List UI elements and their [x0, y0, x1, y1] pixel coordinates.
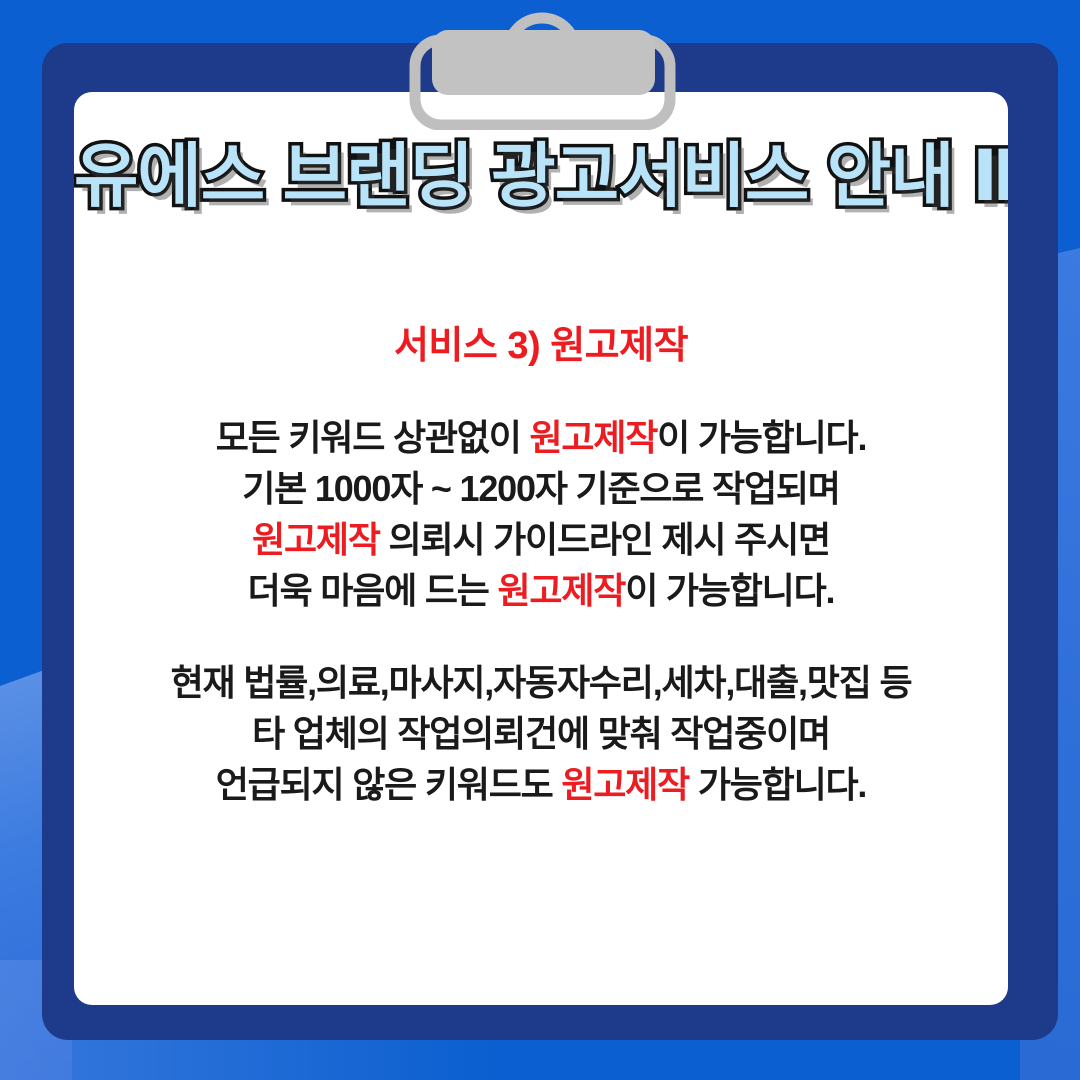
body-line: 타 업체의 작업의뢰건에 맞춰 작업중이며 [74, 708, 1008, 759]
promo-card-canvas: 유에스 브랜딩 광고서비스 안내 Ⅲ 서비스 3) 원고제작 모든 키워드 상관… [0, 0, 1080, 1080]
body-block-two: 현재 법률,의료,마사지,자동자수리,세차,대출,맛집 등타 업체의 작업의뢰건… [74, 657, 1008, 810]
paper-sheet: 유에스 브랜딩 광고서비스 안내 Ⅲ 서비스 3) 원고제작 모든 키워드 상관… [74, 92, 1008, 1005]
highlight-term: 원고제작 [498, 570, 626, 611]
body-line: 더욱 마음에 드는 원고제작이 가능합니다. [74, 565, 1008, 616]
body-text: 현재 법률,의료,마사지,자동자수리,세차,대출,맛집 등 [171, 662, 912, 703]
highlight-term: 원고제작 [561, 764, 689, 805]
body-text: 더욱 마음에 드는 [248, 570, 498, 611]
body-text: 타 업체의 작업의뢰건에 맞춰 작업중이며 [252, 713, 830, 754]
body-text: 언급되지 않은 키워드도 [216, 764, 562, 805]
body-line: 기본 1000자 ~ 1200자 기준으로 작업되며 [74, 463, 1008, 514]
body-line: 언급되지 않은 키워드도 원고제작 가능합니다. [74, 759, 1008, 810]
highlight-term: 원고제작 [529, 417, 657, 458]
clipboard-clip [400, 0, 685, 130]
clip-bar [432, 30, 655, 95]
body-text: 의뢰시 가이드라인 제시 주시면 [380, 519, 830, 560]
body-line: 현재 법률,의료,마사지,자동자수리,세차,대출,맛집 등 [74, 657, 1008, 708]
highlight-term: 원고제작 [252, 519, 380, 560]
page-title: 유에스 브랜딩 광고서비스 안내 Ⅲ [74, 140, 1008, 214]
body-text: 이 가능합니다. [625, 570, 834, 611]
body-text: 가능합니다. [689, 764, 866, 805]
body-text: 모든 키워드 상관없이 [216, 417, 530, 458]
body-text: 기본 1000자 ~ 1200자 기준으로 작업되며 [242, 468, 839, 509]
body-line: 모든 키워드 상관없이 원고제작이 가능합니다. [74, 412, 1008, 463]
service-subtitle: 서비스 3) 원고제작 [74, 314, 1008, 369]
body-line: 원고제작 의뢰시 가이드라인 제시 주시면 [74, 514, 1008, 565]
body-text: 이 가능합니다. [657, 417, 866, 458]
paper-content: 유에스 브랜딩 광고서비스 안내 Ⅲ 서비스 3) 원고제작 모든 키워드 상관… [74, 92, 1008, 1005]
body-block-one: 모든 키워드 상관없이 원고제작이 가능합니다.기본 1000자 ~ 1200자… [74, 412, 1008, 616]
